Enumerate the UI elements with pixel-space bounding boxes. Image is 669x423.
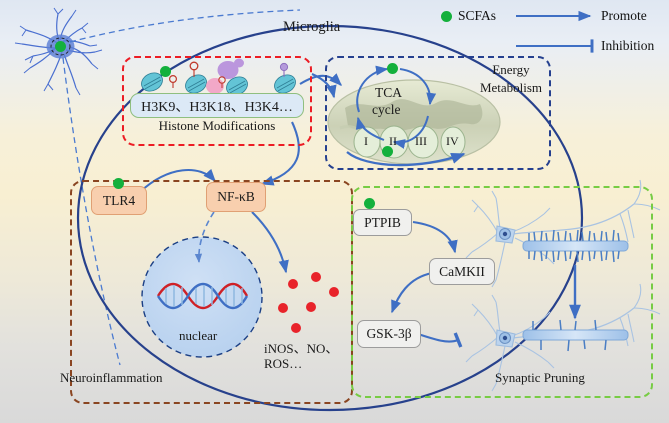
mediator-dot [291, 323, 301, 333]
scfa-dot-histone [160, 66, 171, 77]
mediators-label-line1: iNOS、NO、 [264, 338, 338, 357]
scfa-dot-ptpib [364, 198, 375, 209]
etc-complex-III: III [415, 134, 427, 149]
mediator-dot [311, 272, 321, 282]
microglia-label: Microglia [283, 19, 340, 36]
mediator-dot [306, 302, 316, 312]
scfa-dot-tlr4 [113, 178, 124, 189]
energy-panel-title-line2: Metabolism [466, 81, 556, 95]
legend-promote-label: Promote [601, 8, 647, 24]
tca-cycle-label-line2: cycle [372, 102, 400, 118]
histone-marks-box[interactable]: H3K9、H3K18、H3K4… [130, 93, 304, 118]
histone-panel-title: Histone Modifications [137, 119, 297, 133]
mediator-dot [288, 279, 298, 289]
energy-panel-title-line1: Energy [476, 63, 546, 77]
mediator-dot [329, 287, 339, 297]
etc-complex-I: I [364, 134, 368, 149]
mediators-label-line2: ROS… [264, 356, 302, 372]
node-camkii[interactable]: CaMKII [429, 258, 495, 285]
scfa-dot-external-cell [55, 41, 66, 52]
tca-cycle-label-line1: TCA [375, 85, 402, 101]
node-tlr4[interactable]: TLR4 [91, 186, 147, 215]
etc-complex-IV: IV [446, 134, 459, 149]
scfa-dot-etc [382, 146, 393, 157]
legend-arrows [516, 16, 592, 46]
node-nfkb[interactable]: NF-κB [206, 182, 266, 212]
node-gsk3b[interactable]: GSK-3β [357, 320, 421, 348]
synaptic-panel-title: Synaptic Pruning [495, 371, 635, 385]
legend-inhibition-label: Inhibition [601, 38, 654, 54]
scfa-dot-legend [441, 11, 452, 22]
nucleus-label: nuclear [179, 328, 217, 344]
neuroinflammation-panel-title: Neuroinflammation [60, 371, 200, 385]
legend-scfa-label: SCFAs [458, 8, 496, 24]
scfa-dot-tca [387, 63, 398, 74]
node-ptpib[interactable]: PTPIB [353, 209, 412, 236]
diagram-canvas: Histone Modifications Energy Metabolism … [0, 0, 669, 423]
mediator-dot [278, 303, 288, 313]
